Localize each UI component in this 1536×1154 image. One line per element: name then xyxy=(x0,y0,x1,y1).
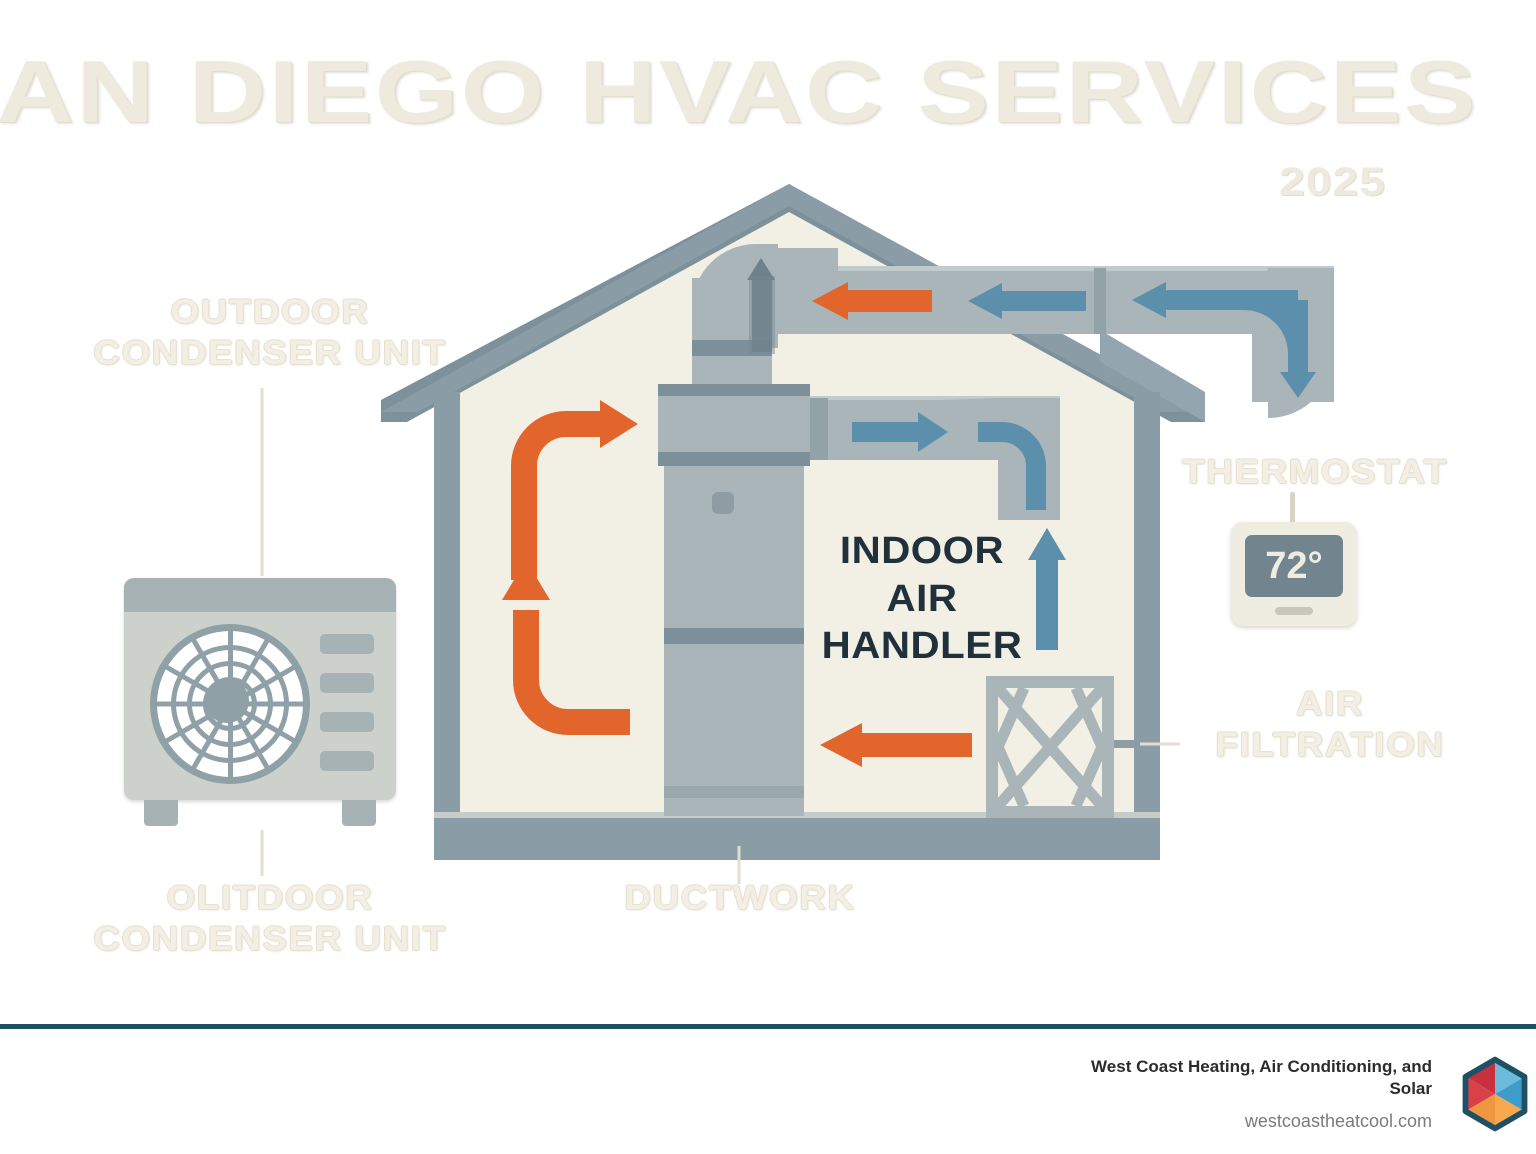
callout-ductwork: DUCTWORK xyxy=(578,878,902,919)
indoor-air-handler-label: INDOOR AIR HANDLER xyxy=(805,528,1038,671)
footer-website-url[interactable]: westcoastheatcool.com xyxy=(1052,1111,1432,1132)
condenser-vent-slat-2 xyxy=(320,673,374,693)
air-filter xyxy=(986,676,1138,818)
fan-hub xyxy=(205,679,249,723)
attic-duct xyxy=(772,266,1334,418)
supply-air-arrow-attic xyxy=(968,283,1086,319)
page-title: SAN DIEGO HVAC SERVICES xyxy=(0,48,1536,136)
thermostat-screen: 72° xyxy=(1245,535,1343,597)
house-interior xyxy=(452,190,1140,840)
condenser-foot-left xyxy=(144,800,178,826)
supply-air-arrow-top-right xyxy=(1132,282,1316,398)
footer: West Coast Heating, Air Conditioning, an… xyxy=(900,1044,1536,1144)
thermostat-stem xyxy=(1290,492,1295,526)
thermostat-temperature-readout: 72° xyxy=(1265,545,1322,588)
supply-air-arrow-mid xyxy=(852,412,948,452)
thermostat-button[interactable] xyxy=(1275,607,1313,615)
flue-pipe xyxy=(692,244,838,446)
condenser-vent-slat-1 xyxy=(320,634,374,654)
condenser-top-panel xyxy=(124,578,396,612)
return-air-arrow-top xyxy=(812,282,932,320)
house-walls xyxy=(434,392,1160,860)
condenser-vent-slat-4 xyxy=(320,751,374,771)
condenser-vent-slat-3 xyxy=(320,712,374,732)
footer-divider xyxy=(0,1024,1536,1029)
callout-outdoor-condenser-bottom: OLITDOOR CONDENSER UNIT xyxy=(43,878,497,961)
infographic-page: SAN DIEGO HVAC SERVICES 2025 xyxy=(0,0,1536,1154)
supply-duct xyxy=(810,396,1060,520)
indoor-air-handler-unit xyxy=(658,384,810,816)
roof xyxy=(381,184,1205,422)
condenser-fan-grille xyxy=(150,624,310,784)
year-label: 2025 xyxy=(1279,160,1386,205)
return-air-arrow-filter xyxy=(820,723,972,767)
return-air-arrow-left-low xyxy=(502,560,630,722)
callout-thermostat: THERMOSTAT xyxy=(1137,452,1493,493)
footer-text-block: West Coast Heating, Air Conditioning, an… xyxy=(1052,1056,1454,1132)
supply-air-arrow-elbow xyxy=(978,432,1036,510)
footer-company-name: West Coast Heating, Air Conditioning, an… xyxy=(1052,1056,1432,1099)
hexagon-logo-icon xyxy=(1454,1053,1536,1135)
return-air-arrow-left-up xyxy=(524,400,638,580)
outdoor-condenser-unit xyxy=(124,578,396,800)
callout-outdoor-condenser-top: OUTDOOR CONDENSER UNIT xyxy=(43,292,497,375)
thermostat-device[interactable]: 72° xyxy=(1231,522,1357,626)
callout-air-filtration: AIR FILTRATION xyxy=(1168,684,1492,767)
condenser-foot-right xyxy=(342,800,376,826)
leader-lines xyxy=(262,388,1180,884)
